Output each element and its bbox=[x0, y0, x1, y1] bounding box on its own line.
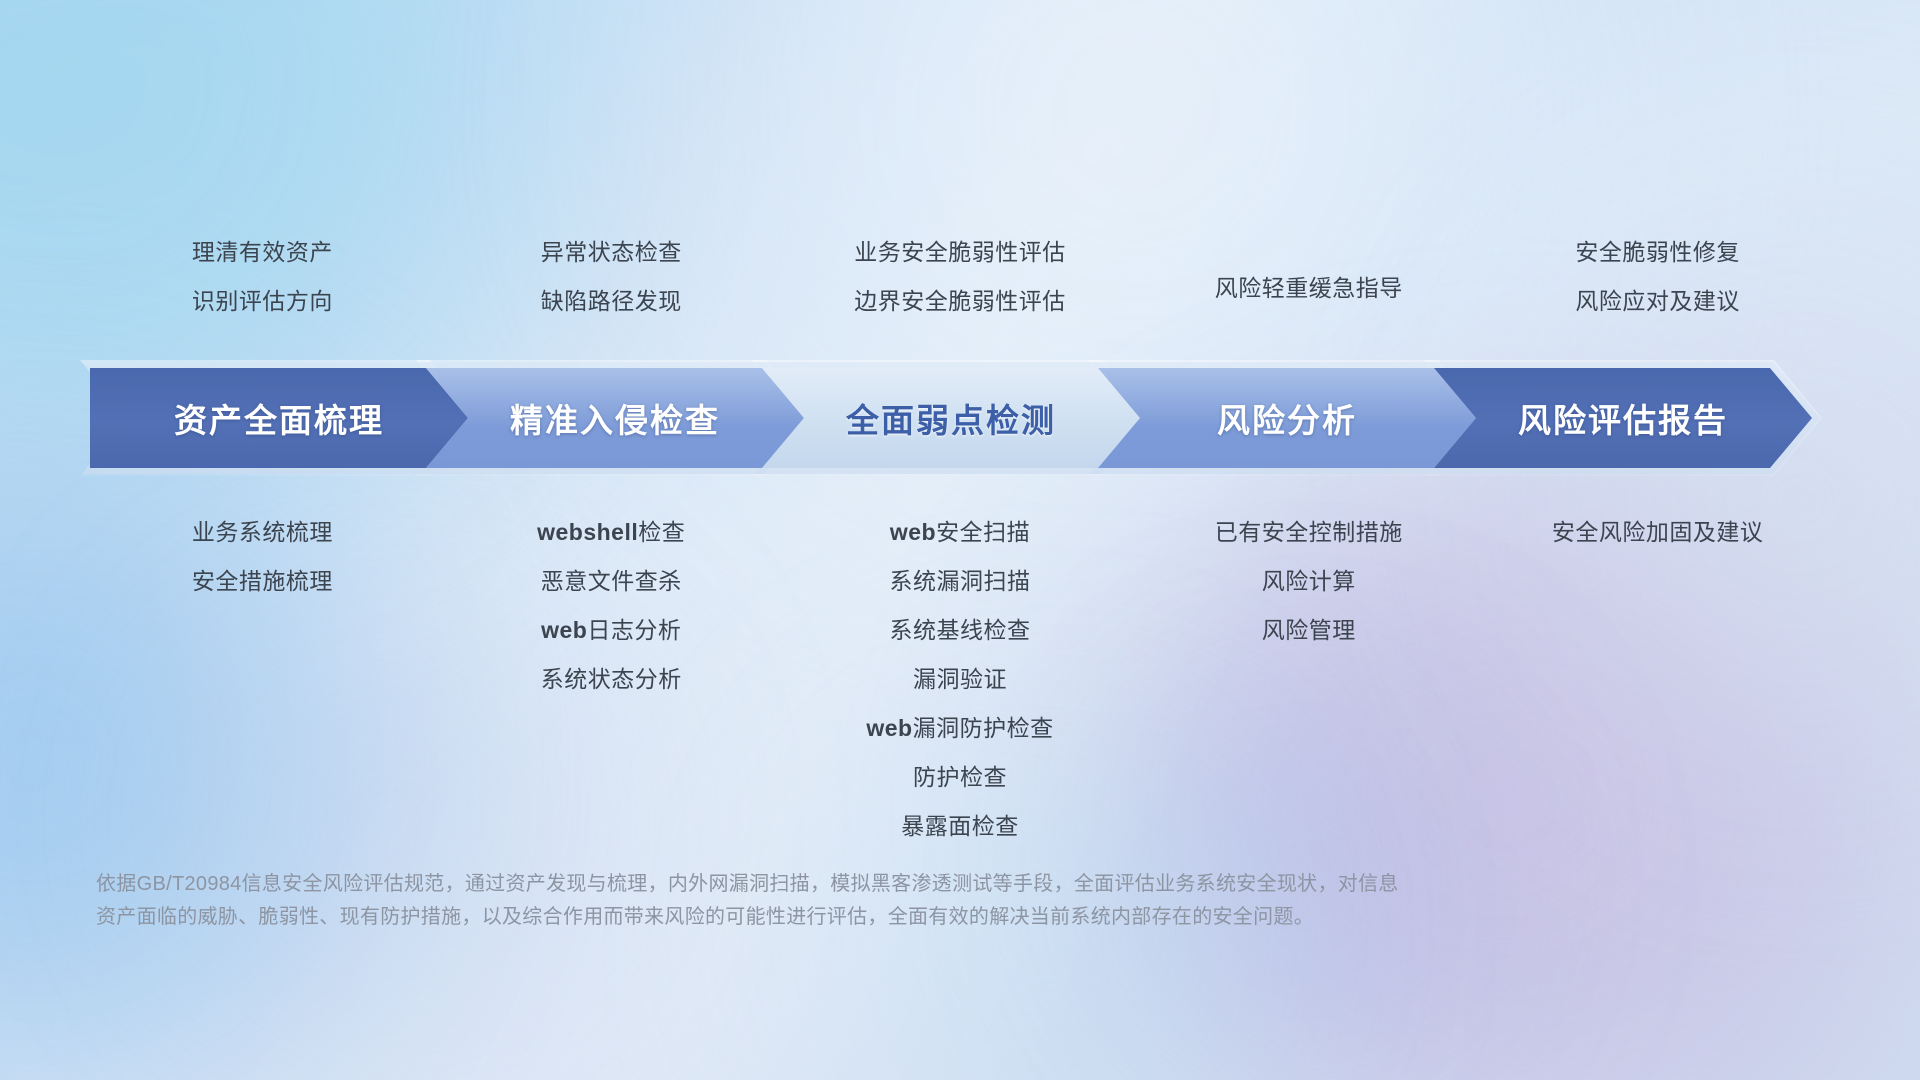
bottom-note-item: 恶意文件查杀 bbox=[437, 557, 786, 606]
footer-description: 依据GB/T20984信息安全风险评估规范，通过资产发现与梳理，内外网漏洞扫描，… bbox=[96, 868, 1656, 934]
bottom-notes-col-asset-inventory: 业务系统梳理安全措施梳理 bbox=[88, 508, 437, 851]
top-note-item: 安全脆弱性修复 bbox=[1483, 228, 1832, 277]
top-note-item: 风险应对及建议 bbox=[1483, 277, 1832, 326]
bottom-note-latin: web bbox=[541, 617, 587, 643]
bottom-notes-col-risk-report: 安全风险加固及建议 bbox=[1483, 508, 1832, 851]
bottom-note-item: 漏洞验证 bbox=[786, 655, 1135, 704]
chevron-stage-risk-analysis[interactable]: 风险分析 bbox=[1098, 368, 1476, 468]
bottom-note-item: web漏洞防护检查 bbox=[786, 704, 1135, 753]
bottom-notes-col-risk-analysis: 已有安全控制措施风险计算风险管理 bbox=[1134, 508, 1483, 851]
bottom-note-item: 风险计算 bbox=[1134, 557, 1483, 606]
bottom-note-latin: webshell bbox=[537, 519, 638, 545]
chevron-stage-risk-report[interactable]: 风险评估报告 bbox=[1434, 368, 1812, 468]
process-diagram: 理清有效资产识别评估方向异常状态检查缺陷路径发现业务安全脆弱性评估边界安全脆弱性… bbox=[0, 0, 1920, 1080]
top-notes-col-asset-inventory: 理清有效资产识别评估方向 bbox=[88, 228, 437, 326]
bottom-note-item: web安全扫描 bbox=[786, 508, 1135, 557]
top-note-item: 理清有效资产 bbox=[88, 228, 437, 277]
bottom-note-item: 系统漏洞扫描 bbox=[786, 557, 1135, 606]
chevron-stage-asset-inventory[interactable]: 资产全面梳理 bbox=[90, 368, 468, 468]
bottom-note-cn: 日志分析 bbox=[587, 617, 681, 643]
top-note-item: 边界安全脆弱性评估 bbox=[786, 277, 1135, 326]
bottom-notes-col-intrusion-check: webshell检查恶意文件查杀web日志分析系统状态分析 bbox=[437, 508, 786, 851]
top-note-item: 风险轻重缓急指导 bbox=[1134, 264, 1483, 313]
bottom-note-latin: web bbox=[890, 519, 936, 545]
chevron-label-asset-inventory: 资产全面梳理 bbox=[174, 394, 384, 442]
chevron-label-weakness-detection: 全面弱点检测 bbox=[846, 394, 1056, 442]
chevron-label-intrusion-check: 精准入侵检查 bbox=[510, 394, 720, 442]
footer-line-2: 资产面临的威胁、脆弱性、现有防护措施，以及综合作用而带来风险的可能性进行评估，全… bbox=[96, 901, 1656, 934]
bottom-note-item: 安全措施梳理 bbox=[88, 557, 437, 606]
top-notes-col-intrusion-check: 异常状态检查缺陷路径发现 bbox=[437, 228, 786, 326]
chevron-label-risk-analysis: 风险分析 bbox=[1217, 394, 1357, 442]
top-notes-col-weakness-detection: 业务安全脆弱性评估边界安全脆弱性评估 bbox=[786, 228, 1135, 326]
top-notes-col-risk-report: 安全脆弱性修复风险应对及建议 bbox=[1483, 228, 1832, 326]
bottom-notes-col-weakness-detection: web安全扫描系统漏洞扫描系统基线检查漏洞验证web漏洞防护检查防护检查暴露面检… bbox=[786, 508, 1135, 851]
bottom-note-item: 业务系统梳理 bbox=[88, 508, 437, 557]
top-note-item: 识别评估方向 bbox=[88, 277, 437, 326]
top-notes-row: 理清有效资产识别评估方向异常状态检查缺陷路径发现业务安全脆弱性评估边界安全脆弱性… bbox=[88, 228, 1832, 326]
top-note-item: 缺陷路径发现 bbox=[437, 277, 786, 326]
bottom-note-item: 防护检查 bbox=[786, 753, 1135, 802]
process-chevron-band: 资产全面梳理精准入侵检查全面弱点检测风险分析风险评估报告 bbox=[0, 368, 1920, 468]
chevron-stage-weakness-detection[interactable]: 全面弱点检测 bbox=[762, 368, 1140, 468]
bottom-note-item: 暴露面检查 bbox=[786, 802, 1135, 851]
bottom-note-item: 安全风险加固及建议 bbox=[1483, 508, 1832, 557]
bottom-note-item: 风险管理 bbox=[1134, 606, 1483, 655]
bottom-note-cn: 漏洞防护检查 bbox=[913, 715, 1054, 741]
top-note-item: 异常状态检查 bbox=[437, 228, 786, 277]
bottom-note-item: 系统状态分析 bbox=[437, 655, 786, 704]
chevron-label-risk-report: 风险评估报告 bbox=[1518, 394, 1728, 442]
bottom-note-cn: 检查 bbox=[638, 519, 685, 545]
bottom-note-item: 已有安全控制措施 bbox=[1134, 508, 1483, 557]
bottom-note-item: 系统基线检查 bbox=[786, 606, 1135, 655]
bottom-note-cn: 安全扫描 bbox=[936, 519, 1030, 545]
bottom-notes-row: 业务系统梳理安全措施梳理webshell检查恶意文件查杀web日志分析系统状态分… bbox=[88, 508, 1832, 851]
chevron-stage-intrusion-check[interactable]: 精准入侵检查 bbox=[426, 368, 804, 468]
footer-line-1: 依据GB/T20984信息安全风险评估规范，通过资产发现与梳理，内外网漏洞扫描，… bbox=[96, 868, 1656, 901]
top-note-item: 业务安全脆弱性评估 bbox=[786, 228, 1135, 277]
top-notes-col-risk-analysis: 风险轻重缓急指导 bbox=[1134, 228, 1483, 326]
bottom-note-item: webshell检查 bbox=[437, 508, 786, 557]
bottom-note-item: web日志分析 bbox=[437, 606, 786, 655]
bottom-note-latin: web bbox=[866, 715, 912, 741]
